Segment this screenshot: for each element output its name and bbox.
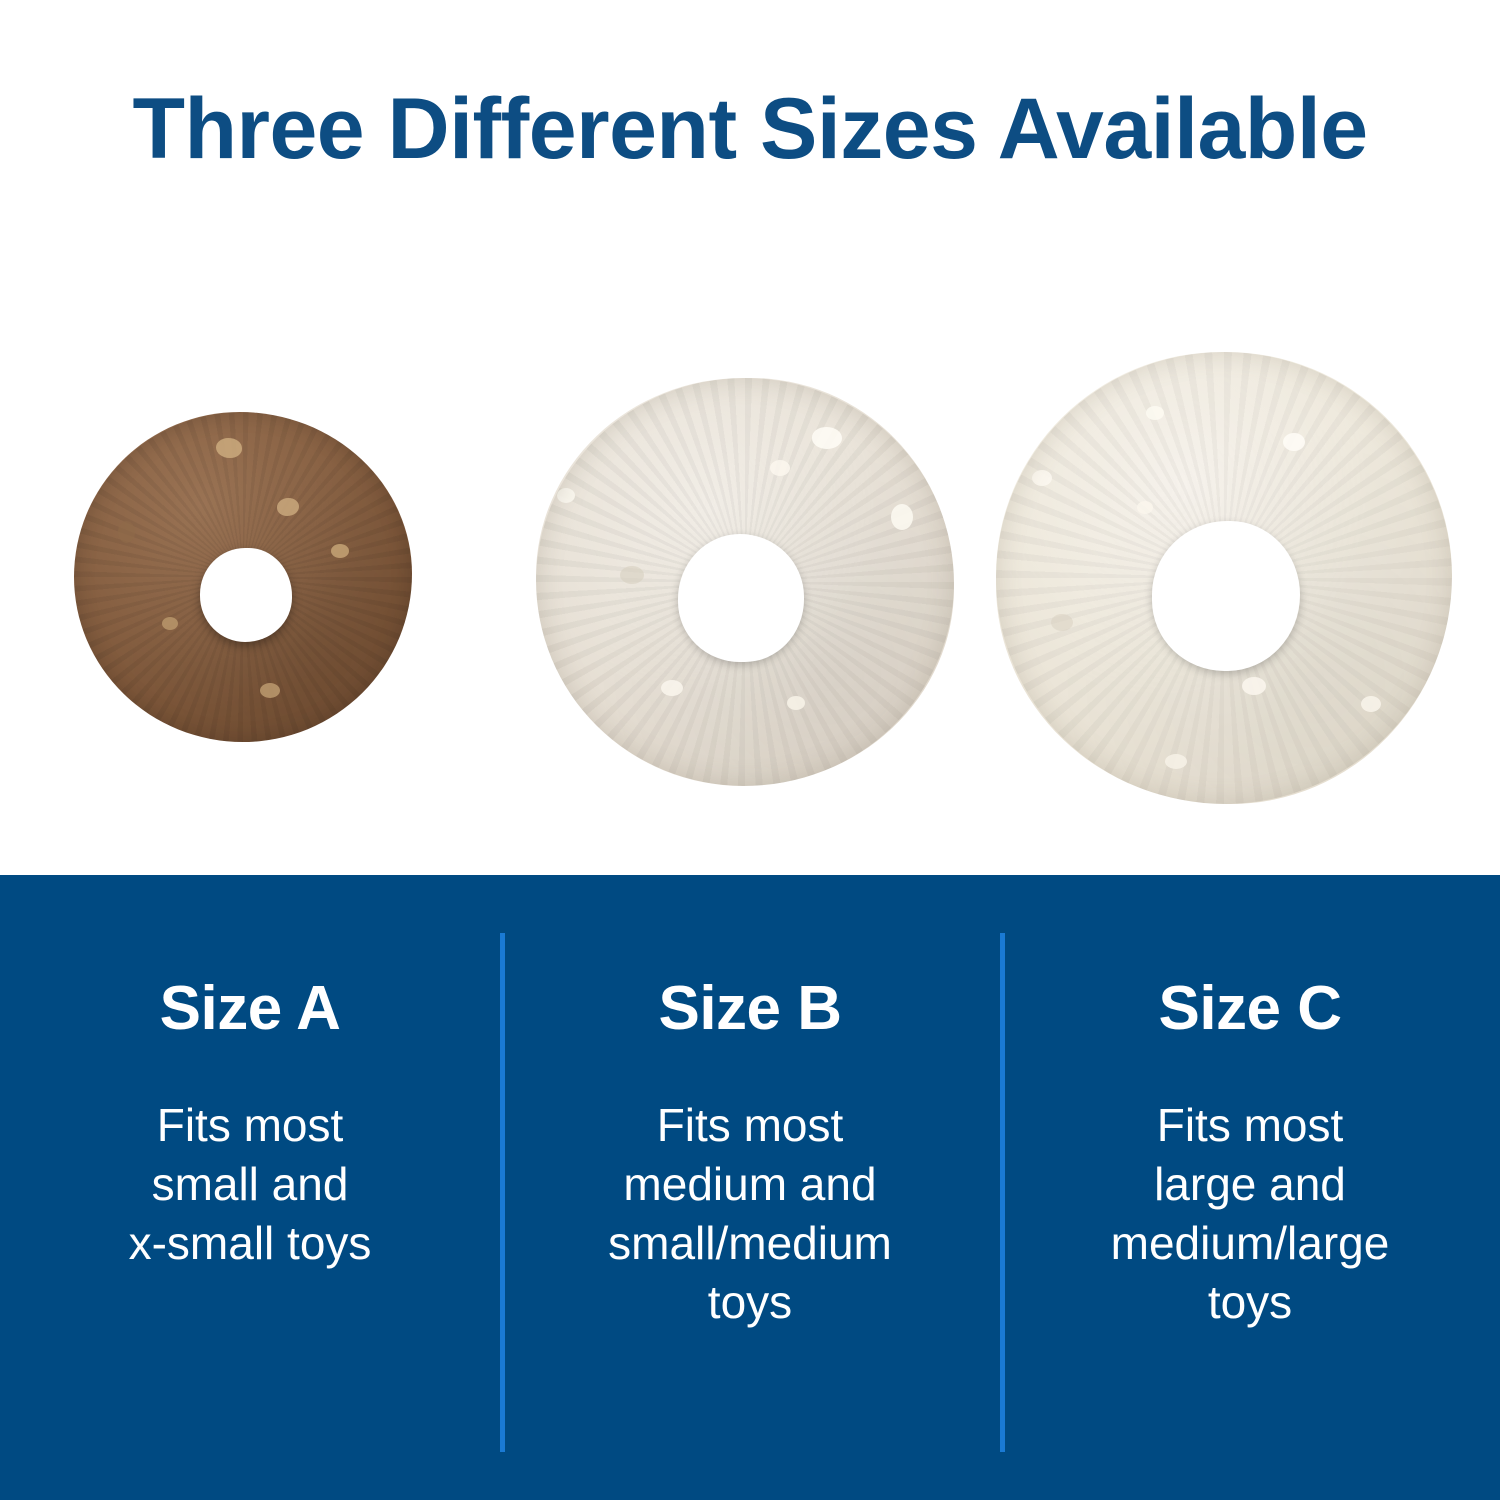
size-b-heading: Size B [658, 978, 841, 1040]
page-title: Three Different Sizes Available [0, 86, 1500, 172]
size-column-c: Size C Fits most large and medium/large … [1000, 875, 1500, 1500]
product-image-size-c [996, 352, 1452, 804]
size-c-description: Fits most large and medium/large toys [1111, 1096, 1390, 1332]
size-column-b: Size B Fits most medium and small/medium… [500, 875, 1000, 1500]
center-hole-b [678, 534, 804, 662]
center-hole-a [200, 548, 292, 642]
size-a-heading: Size A [160, 978, 341, 1040]
size-c-heading: Size C [1158, 978, 1341, 1040]
product-image-stage [0, 200, 1500, 860]
size-column-a: Size A Fits most small and x-small toys [0, 875, 500, 1500]
product-image-size-b [536, 378, 954, 786]
product-image-size-a [74, 412, 412, 742]
center-hole-c [1152, 521, 1300, 671]
size-a-description: Fits most small and x-small toys [129, 1096, 372, 1273]
size-comparison-panel: Size A Fits most small and x-small toys … [0, 875, 1500, 1500]
size-b-description: Fits most medium and small/medium toys [608, 1096, 892, 1332]
